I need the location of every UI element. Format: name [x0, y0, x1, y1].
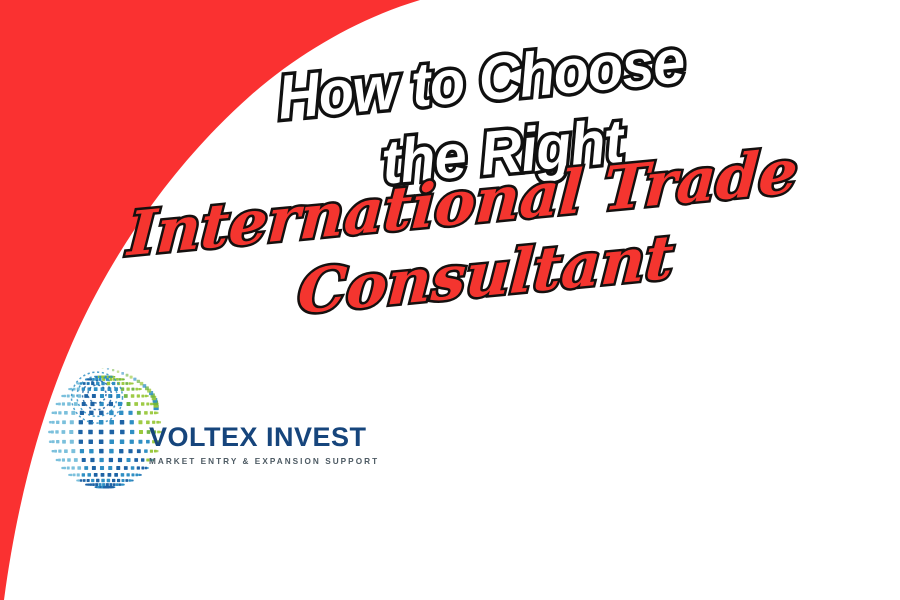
logo-tagline: MARKET ENTRY & EXPANSION SUPPORT [149, 457, 369, 466]
brand-logo: VOLTEX INVEST MARKET ENTRY & EXPANSION S… [45, 368, 335, 508]
poster-canvas: How to Choose the Right International Tr… [0, 0, 900, 600]
background-graphic [0, 0, 900, 600]
logo-name: VOLTEX INVEST [149, 424, 369, 451]
logo-text-block: VOLTEX INVEST MARKET ENTRY & EXPANSION S… [149, 424, 369, 466]
